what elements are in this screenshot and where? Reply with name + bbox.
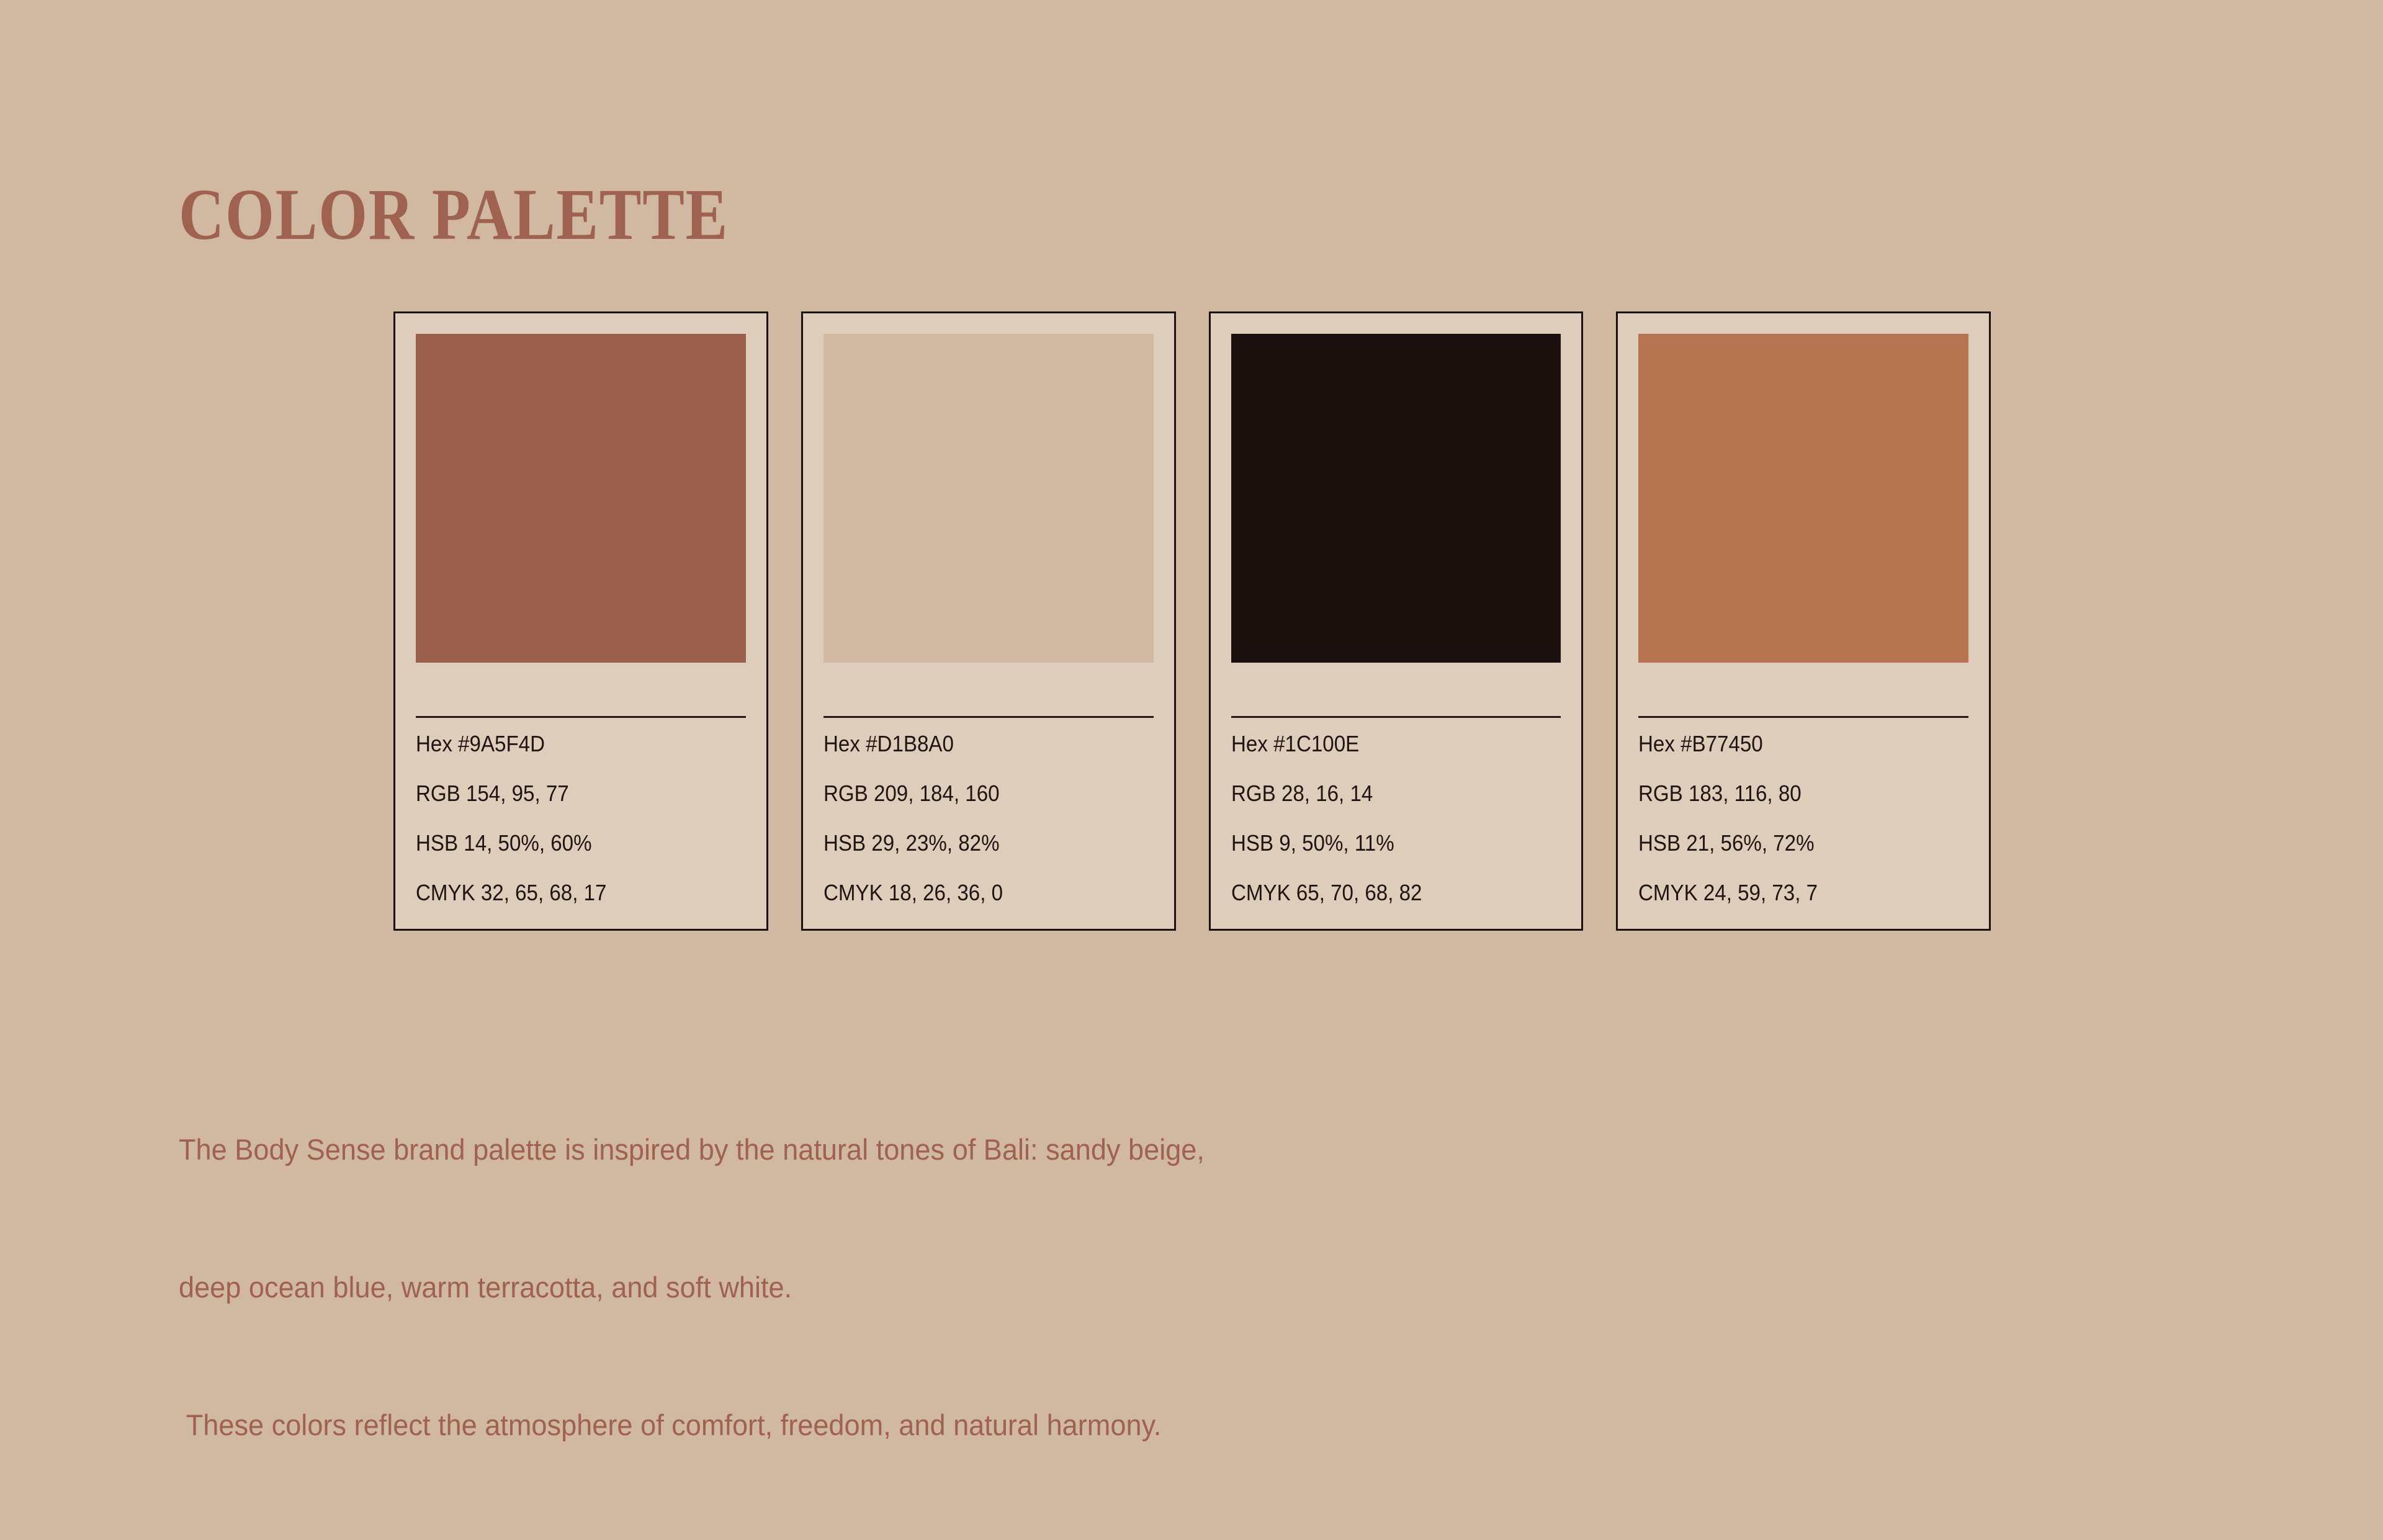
color-swatch: [824, 334, 1154, 663]
page-title: COLOR PALETTE: [179, 178, 729, 251]
hex-value: Hex #1C100E: [1231, 733, 1535, 755]
hex-value: Hex #B77450: [1638, 733, 1942, 755]
hsb-value: HSB 29, 23%, 82%: [824, 832, 1127, 854]
palette-description: The Body Sense brand palette is inspired…: [179, 1035, 1668, 1540]
color-palette-page: COLOR PALETTE Hex #9A5F4D RGB 154, 95, 7…: [0, 0, 2383, 1340]
rgb-value: RGB 183, 116, 80: [1638, 782, 1942, 805]
rgb-value: RGB 28, 16, 14: [1231, 782, 1535, 805]
color-swatch: [416, 334, 746, 663]
cmyk-value: CMYK 24, 59, 73, 7: [1638, 882, 1942, 904]
hex-value: Hex #D1B8A0: [824, 733, 1127, 755]
divider-rule: [416, 716, 746, 718]
swatch-specs: Hex #1C100E RGB 28, 16, 14 HSB 9, 50%, 1…: [1211, 663, 1582, 929]
rgb-value: RGB 209, 184, 160: [824, 782, 1127, 805]
hsb-value: HSB 14, 50%, 60%: [416, 832, 719, 854]
description-line: deep ocean blue, warm terracotta, and so…: [179, 1265, 1609, 1310]
divider-rule: [1231, 716, 1561, 718]
swatch-card[interactable]: Hex #B77450 RGB 183, 116, 80 HSB 21, 56%…: [1616, 311, 1991, 931]
cmyk-value: CMYK 32, 65, 68, 17: [416, 882, 719, 904]
swatch-specs: Hex #B77450 RGB 183, 116, 80 HSB 21, 56%…: [1618, 663, 1989, 929]
color-swatch: [1638, 334, 1968, 663]
cmyk-value: CMYK 18, 26, 36, 0: [824, 882, 1127, 904]
cmyk-value: CMYK 65, 70, 68, 82: [1231, 882, 1535, 904]
swatch-card[interactable]: Hex #9A5F4D RGB 154, 95, 77 HSB 14, 50%,…: [393, 311, 768, 931]
rgb-value: RGB 154, 95, 77: [416, 782, 719, 805]
hsb-value: HSB 9, 50%, 11%: [1231, 832, 1535, 854]
hex-value: Hex #9A5F4D: [416, 733, 719, 755]
swatch-container: [1211, 313, 1582, 663]
divider-rule: [824, 716, 1154, 718]
description-line: The Body Sense brand palette is inspired…: [179, 1127, 1609, 1173]
swatch-container: [1618, 313, 1989, 663]
hsb-value: HSB 21, 56%, 72%: [1638, 832, 1942, 854]
color-swatch: [1231, 334, 1561, 663]
swatch-card[interactable]: Hex #1C100E RGB 28, 16, 14 HSB 9, 50%, 1…: [1209, 311, 1584, 931]
swatch-card[interactable]: Hex #D1B8A0 RGB 209, 184, 160 HSB 29, 23…: [801, 311, 1176, 931]
swatch-container: [395, 313, 766, 663]
swatch-container: [803, 313, 1174, 663]
description-line: These colors reflect the atmosphere of c…: [179, 1402, 1609, 1448]
divider-rule: [1638, 716, 1968, 718]
swatch-card-list: Hex #9A5F4D RGB 154, 95, 77 HSB 14, 50%,…: [393, 311, 1991, 931]
swatch-specs: Hex #9A5F4D RGB 154, 95, 77 HSB 14, 50%,…: [395, 663, 766, 929]
swatch-specs: Hex #D1B8A0 RGB 209, 184, 160 HSB 29, 23…: [803, 663, 1174, 929]
